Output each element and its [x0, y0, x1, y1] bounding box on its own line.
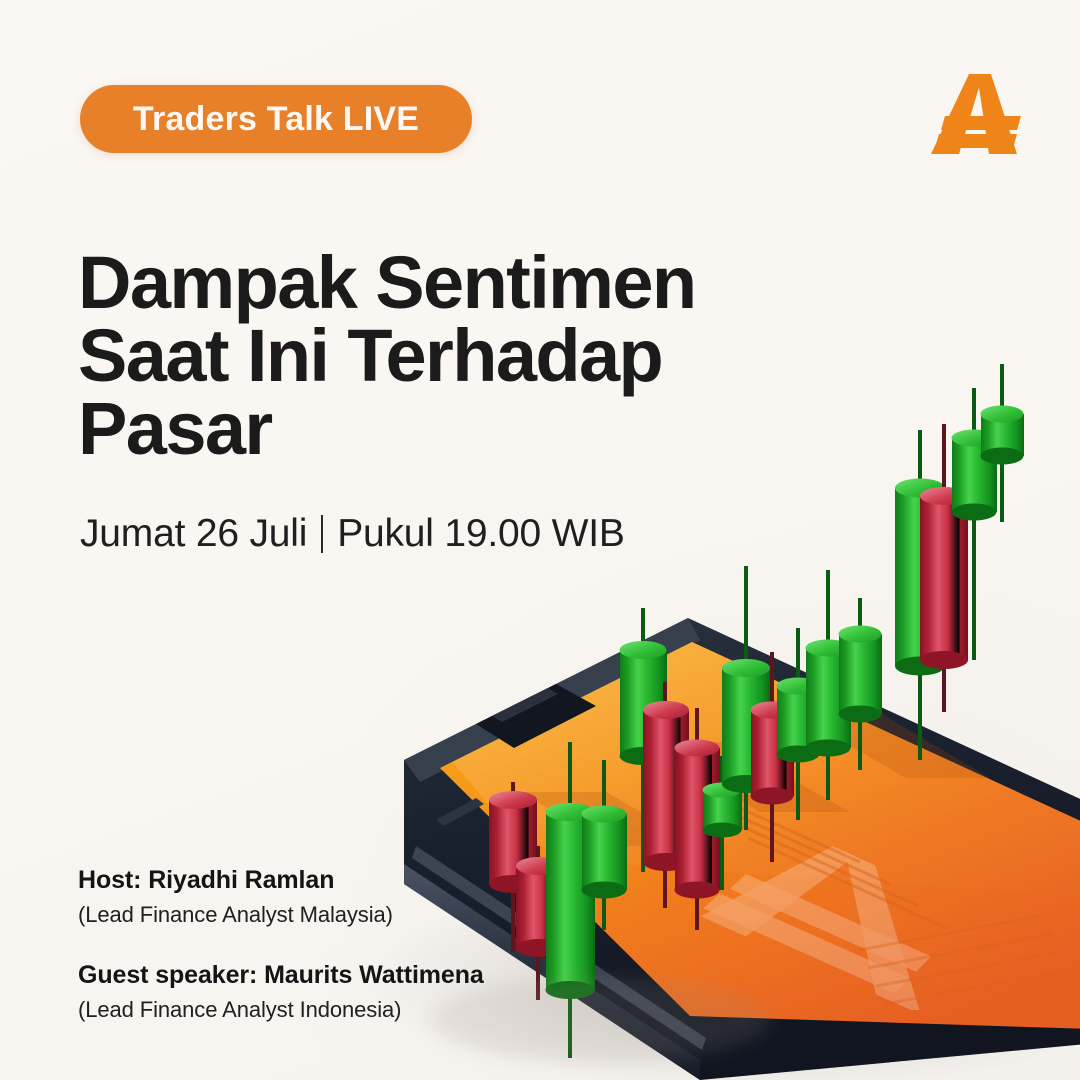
credit-host-name: Host: Riyadhi Ramlan: [78, 865, 638, 896]
candle-14-bull: [895, 430, 945, 760]
candle-15-bear: [920, 424, 968, 712]
credit-host-role: (Lead Finance Analyst Malaysia): [78, 901, 638, 930]
credit-guest-name: Guest speaker: Maurits Wattimena: [78, 960, 638, 991]
credit-host: Host: Riyadhi Ramlan (Lead Finance Analy…: [78, 865, 638, 930]
badge-label: Traders Talk LIVE: [133, 102, 419, 136]
candle-8-bull: [703, 756, 743, 890]
schedule-date: Jumat 26 Juli: [80, 514, 307, 553]
traders-talk-live-badge[interactable]: Traders Talk LIVE: [80, 85, 472, 153]
page-title: Dampak Sentimen Saat Ini Terhadap Pasar: [78, 246, 818, 466]
headline-line-2: Saat Ini Terhadap: [78, 319, 818, 392]
credits-block: Host: Riyadhi Ramlan (Lead Finance Analy…: [78, 865, 638, 1025]
candle-5-bull: [620, 608, 668, 872]
phone-notch: [476, 684, 596, 748]
promo-poster: Traders Talk LIVE Dampak Sentimen Saat I…: [0, 0, 1080, 1080]
ascendex-a-logo-icon: [925, 58, 1035, 162]
schedule-separator: [321, 515, 323, 553]
headline-line-1: Dampak Sentimen: [78, 246, 818, 319]
schedule-time: Pukul 19.00 WIB: [337, 514, 624, 553]
candle-17-bull: [981, 364, 1025, 522]
candle-11-bull: [777, 628, 821, 820]
candle-6-bear: [643, 682, 689, 908]
candle-12-bull: [806, 570, 852, 800]
candle-13-bull: [839, 598, 883, 770]
candle-16-bull: [952, 388, 998, 660]
schedule-line: Jumat 26 Juli Pukul 19.00 WIB: [80, 514, 625, 553]
phone-side-button: [436, 798, 484, 826]
credit-guest-role: (Lead Finance Analyst Indonesia): [78, 996, 638, 1025]
candle-9-bull: [722, 566, 770, 830]
candle-7-bear: [675, 708, 721, 930]
headline-line-3: Pasar: [78, 392, 818, 465]
candle-10-bear: [751, 652, 795, 862]
credit-guest: Guest speaker: Maurits Wattimena (Lead F…: [78, 960, 638, 1025]
screen-watermark-logo-icon: [701, 804, 958, 1014]
